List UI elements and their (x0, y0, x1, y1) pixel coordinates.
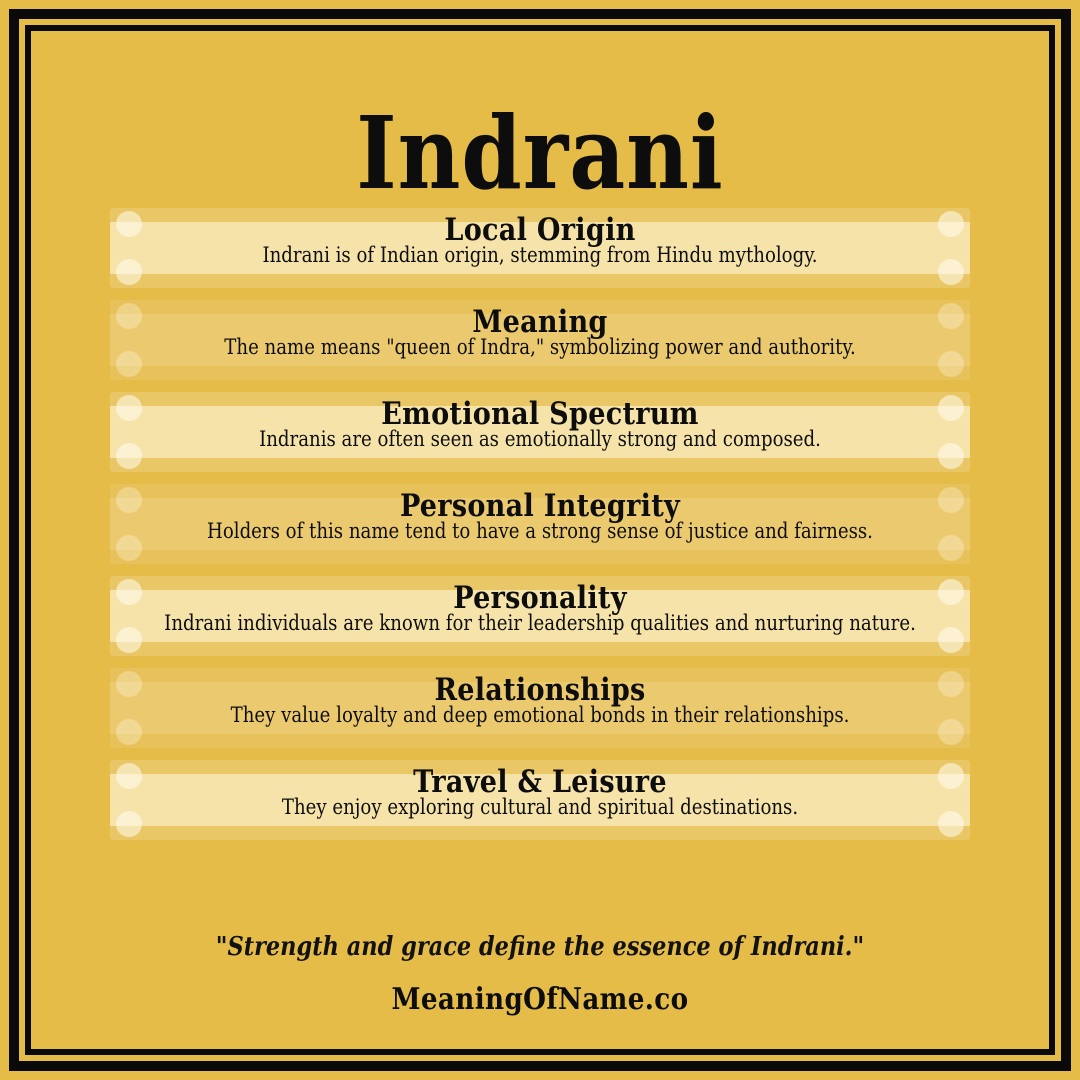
card-text: Personal Integrity Holders of this name … (110, 484, 970, 564)
section-heading: Travel & Leisure (123, 760, 957, 799)
section-card-travel-leisure: Travel & Leisure They enjoy exploring cu… (110, 760, 970, 840)
card-text: Relationships They value loyalty and dee… (110, 668, 970, 748)
footer-quote: "Strength and grace define the essence o… (22, 932, 1059, 962)
section-heading: Personality (123, 576, 957, 615)
section-description: Holders of this name tend to have a stro… (127, 520, 953, 542)
section-description: They enjoy exploring cultural and spirit… (127, 796, 953, 818)
section-card-local-origin: Local Origin Indrani is of Indian origin… (110, 208, 970, 288)
section-card-relationships: Relationships They value loyalty and dee… (110, 668, 970, 748)
section-description: They value loyalty and deep emotional bo… (127, 704, 953, 726)
section-description: Indranis are often seen as emotionally s… (127, 428, 953, 450)
section-card-emotional-spectrum: Emotional Spectrum Indranis are often se… (110, 392, 970, 472)
footer-brand: MeaningOfName.co (16, 982, 1064, 1017)
card-text: Local Origin Indrani is of Indian origin… (110, 208, 970, 288)
section-heading: Emotional Spectrum (123, 392, 957, 431)
card-text: Travel & Leisure They enjoy exploring cu… (110, 760, 970, 840)
sections-list: Local Origin Indrani is of Indian origin… (110, 208, 970, 852)
section-card-personal-integrity: Personal Integrity Holders of this name … (110, 484, 970, 564)
section-description: Indrani is of Indian origin, stemming fr… (127, 244, 953, 266)
card-text: Meaning The name means "queen of Indra,"… (110, 300, 970, 380)
section-heading: Meaning (123, 300, 957, 339)
card-text: Emotional Spectrum Indranis are often se… (110, 392, 970, 472)
name-meaning-poster: Indrani Local Origin Indrani is of India… (0, 0, 1080, 1080)
section-card-personality: Personality Indrani individuals are know… (110, 576, 970, 656)
section-card-meaning: Meaning The name means "queen of Indra,"… (110, 300, 970, 380)
section-heading: Personal Integrity (123, 484, 957, 523)
section-description: Indrani individuals are known for their … (127, 612, 953, 634)
page-title: Indrani (22, 103, 1059, 203)
card-text: Personality Indrani individuals are know… (110, 576, 970, 656)
section-heading: Relationships (123, 668, 957, 707)
section-heading: Local Origin (123, 208, 957, 247)
section-description: The name means "queen of Indra," symboli… (127, 336, 953, 358)
